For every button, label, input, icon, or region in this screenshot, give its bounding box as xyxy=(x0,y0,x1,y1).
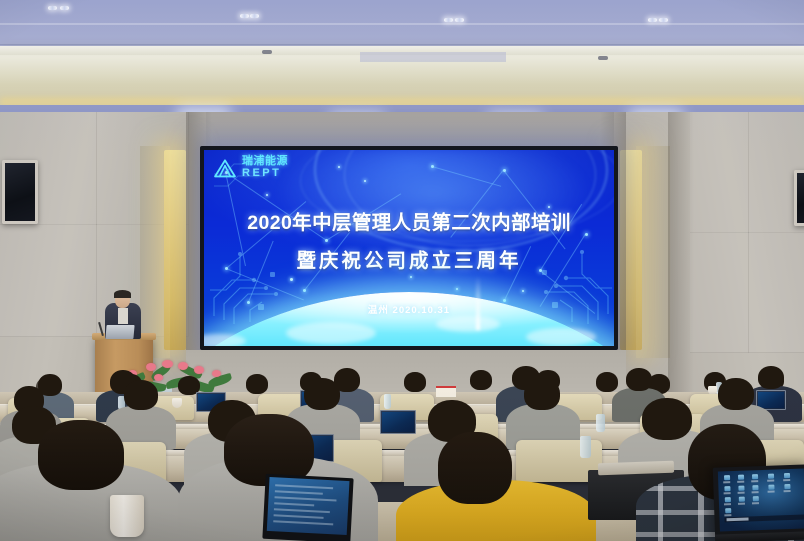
laptop-foreground-left[interactable] xyxy=(262,474,353,541)
water-bottle xyxy=(596,414,605,432)
presenter-shirt xyxy=(118,308,128,324)
desktop-icon[interactable] xyxy=(784,473,790,478)
wall-corner-shadow-far-right xyxy=(668,112,694,412)
ceiling-downlight xyxy=(262,50,272,54)
desktop-icon[interactable] xyxy=(752,485,758,490)
ceiling-downlight xyxy=(444,18,453,22)
desktop-icon-label xyxy=(724,514,731,516)
ceiling-downlight xyxy=(240,14,249,18)
earth-cloud xyxy=(286,322,376,344)
table-name-card xyxy=(436,386,456,397)
document-text-line xyxy=(275,484,333,489)
wall-tile xyxy=(0,224,97,337)
laptop[interactable] xyxy=(380,410,416,434)
flower-bloom xyxy=(146,363,156,371)
document-text-line xyxy=(275,496,337,501)
desktop-icon-label xyxy=(768,491,775,493)
wall-tile xyxy=(690,232,749,353)
document-text-line xyxy=(274,508,330,512)
led-particle xyxy=(456,288,458,290)
ceiling-downlight xyxy=(60,6,69,10)
desktop-icon-label xyxy=(737,481,744,483)
logo-wordmark: 瑞浦能源 REPT xyxy=(242,156,288,179)
desktop-icon-label xyxy=(723,481,730,483)
laptop-foreground-right[interactable] xyxy=(713,464,804,541)
desktop-icon[interactable] xyxy=(724,486,730,491)
laptop-screen-windows-desktop xyxy=(718,469,804,532)
attendee-head-yellow-shirt xyxy=(438,432,512,504)
logo-latin-name: REPT xyxy=(242,168,288,179)
ceiling-downlight xyxy=(48,6,57,10)
attendee-head xyxy=(246,374,268,394)
desktop-icon[interactable] xyxy=(768,474,774,479)
earth-cloud xyxy=(436,316,500,332)
earth-cloud xyxy=(204,334,246,346)
attendee-head xyxy=(626,368,652,391)
ceiling-downlight xyxy=(659,18,668,22)
ceiling-downlight xyxy=(250,14,259,18)
attendee-head xyxy=(758,366,784,389)
desktop-icon[interactable] xyxy=(784,484,790,489)
plaid-stripe xyxy=(658,474,663,541)
led-video-wall: 瑞浦能源 REPT 2020年中层管理人员第二次内部培训 暨庆祝公司成立三周年 … xyxy=(200,146,618,350)
desktop-icon[interactable] xyxy=(739,497,745,502)
ceiling-seam-line xyxy=(0,23,804,25)
desktop-icon[interactable] xyxy=(738,486,744,491)
triangle-mountain-logo-icon xyxy=(212,157,238,179)
water-bottle xyxy=(384,394,391,409)
attendee-head xyxy=(470,370,492,390)
wall-tile xyxy=(748,232,804,353)
desktop-icon-label xyxy=(783,479,790,481)
desktop-icon[interactable] xyxy=(752,474,758,479)
attendee-head xyxy=(524,378,560,410)
desktop-icon[interactable] xyxy=(725,497,731,502)
flower-bloom xyxy=(154,374,163,381)
desktop-icon[interactable] xyxy=(738,475,744,480)
document-text-line xyxy=(274,502,314,506)
desktop-icon-label xyxy=(724,503,731,505)
attendee-head xyxy=(38,420,124,490)
led-particle xyxy=(410,276,412,278)
laptop-screen xyxy=(758,392,784,408)
document-text-line xyxy=(275,490,323,494)
desktop-icon-label xyxy=(752,491,759,493)
ceiling-downlight xyxy=(598,56,608,60)
ceiling-seam-line-secondary xyxy=(0,44,804,45)
taskbar-search-box[interactable] xyxy=(726,517,748,521)
right-wall-display[interactable] xyxy=(794,170,804,226)
desktop-icon-label xyxy=(751,480,758,482)
desktop-icon-label xyxy=(738,492,745,494)
desktop-icon-label xyxy=(784,490,791,492)
wall-tile xyxy=(690,112,749,233)
paper-cup xyxy=(172,398,182,408)
slide-location-date: 温州 2020.10.31 xyxy=(204,302,614,316)
ceiling-downlight xyxy=(648,18,657,22)
cove-light-spill-right xyxy=(636,146,670,358)
flower-bloom xyxy=(178,362,188,370)
company-logo: 瑞浦能源 REPT xyxy=(212,156,288,179)
logo-chinese-name: 瑞浦能源 xyxy=(242,156,288,167)
presenter-hair xyxy=(114,290,131,298)
flower-bloom xyxy=(194,366,204,374)
led-screen-surface: 瑞浦能源 REPT 2020年中层管理人员第二次内部培训 暨庆祝公司成立三周年 … xyxy=(204,150,614,346)
attendee-head xyxy=(596,372,618,392)
desktop-icon[interactable] xyxy=(753,496,759,501)
slide-title-line-2: 暨庆祝公司成立三周年 xyxy=(204,244,614,273)
attendee-head xyxy=(124,380,158,410)
slide-title-block: 2020年中层管理人员第二次内部培训 暨庆祝公司成立三周年 xyxy=(204,206,614,273)
desktop-icon[interactable] xyxy=(768,485,774,490)
ceiling-downlight xyxy=(455,18,464,22)
desktop-icon-label xyxy=(738,503,745,505)
slide-title-line-1: 2020年中层管理人员第二次内部培训 xyxy=(204,206,614,235)
ceiling-vent-panel xyxy=(360,52,506,62)
document-text-line xyxy=(273,520,333,525)
conference-hall-photo: 瑞浦能源 REPT 2020年中层管理人员第二次内部培训 暨庆祝公司成立三周年 … xyxy=(0,0,804,541)
desktop-icon-label xyxy=(767,480,774,482)
flower-bloom xyxy=(162,360,173,368)
attendee-head xyxy=(718,378,754,410)
left-wall-display[interactable] xyxy=(2,160,38,224)
paper-cup-foreground xyxy=(110,495,144,537)
desktop-icon-label xyxy=(752,502,759,504)
laptop-screen-document xyxy=(267,477,350,535)
laptop-base xyxy=(715,531,804,541)
lectern-laptop xyxy=(105,325,134,339)
desktop-icon-label xyxy=(724,492,731,494)
earth-cloud xyxy=(526,328,596,346)
water-bottle xyxy=(580,436,591,458)
attendee-head xyxy=(304,378,340,410)
attendee-head xyxy=(642,398,692,440)
desktop-icon[interactable] xyxy=(725,508,731,513)
laptop-screen xyxy=(382,412,414,432)
network-node xyxy=(303,289,306,292)
attendee-head xyxy=(404,372,426,392)
flower-bloom xyxy=(212,370,221,377)
document-text-line xyxy=(274,514,324,518)
cove-light-spill-left xyxy=(140,146,170,358)
desktop-icon[interactable] xyxy=(724,475,730,480)
